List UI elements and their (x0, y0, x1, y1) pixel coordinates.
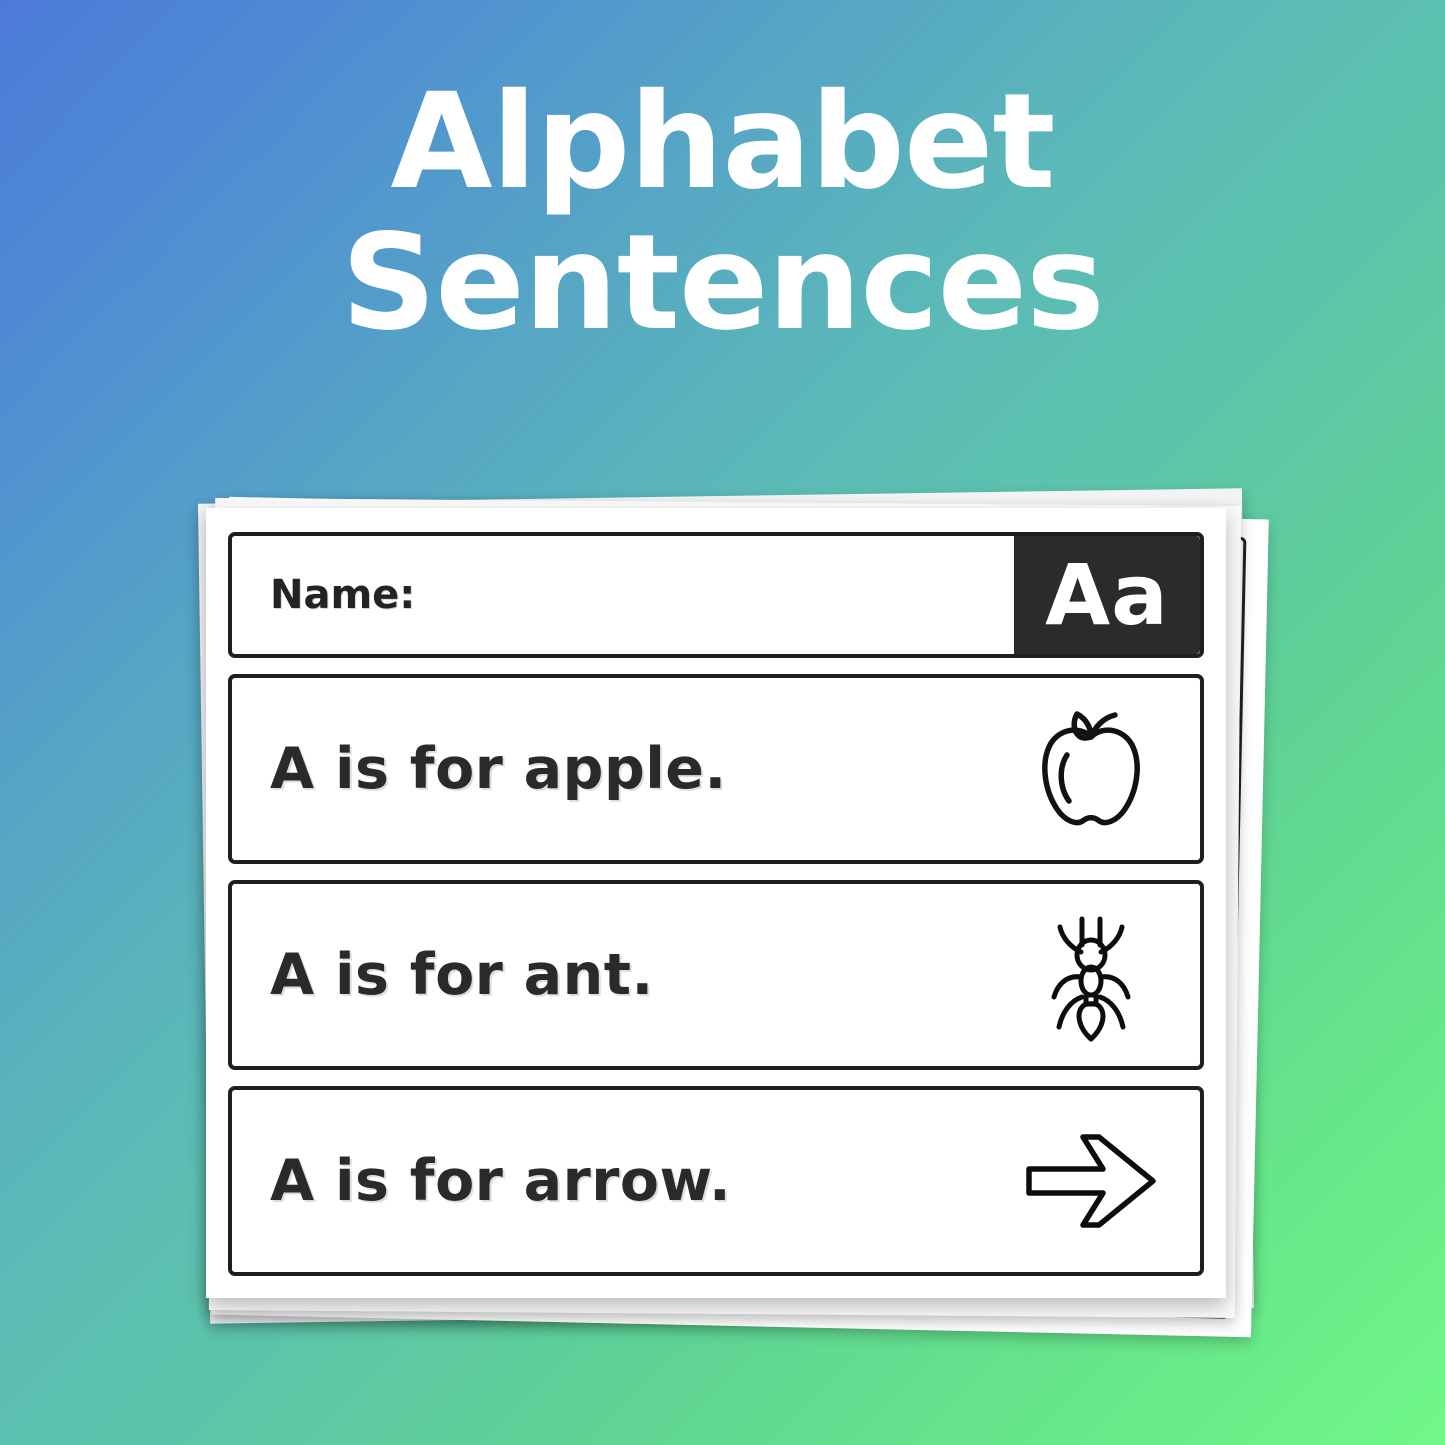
sentence-row: A is for ant. (228, 880, 1204, 1070)
title-line-1: Alphabet (0, 72, 1445, 213)
ant-icon (1016, 900, 1166, 1050)
arrow-right-icon (1016, 1106, 1166, 1256)
sentence-text: A is for apple. (270, 736, 727, 802)
sentence-row: A is for apple. (228, 674, 1204, 864)
sentence-text: A is for ant. (270, 942, 654, 1008)
name-field-label[interactable]: Name: (232, 572, 1014, 618)
page-title: Alphabet Sentences (0, 72, 1445, 354)
apple-icon (1016, 694, 1166, 844)
sentence-row: A is for arrow. (228, 1086, 1204, 1276)
name-row: Name: Aa (228, 532, 1204, 658)
sentence-text: A is for arrow. (270, 1148, 731, 1214)
poster-canvas: Alphabet Sentences Name: Aa A is for app… (0, 0, 1445, 1445)
title-line-2: Sentences (0, 213, 1445, 354)
letter-badge: Aa (1014, 536, 1200, 654)
worksheet: Name: Aa A is for apple. A is for ant. (206, 508, 1226, 1298)
